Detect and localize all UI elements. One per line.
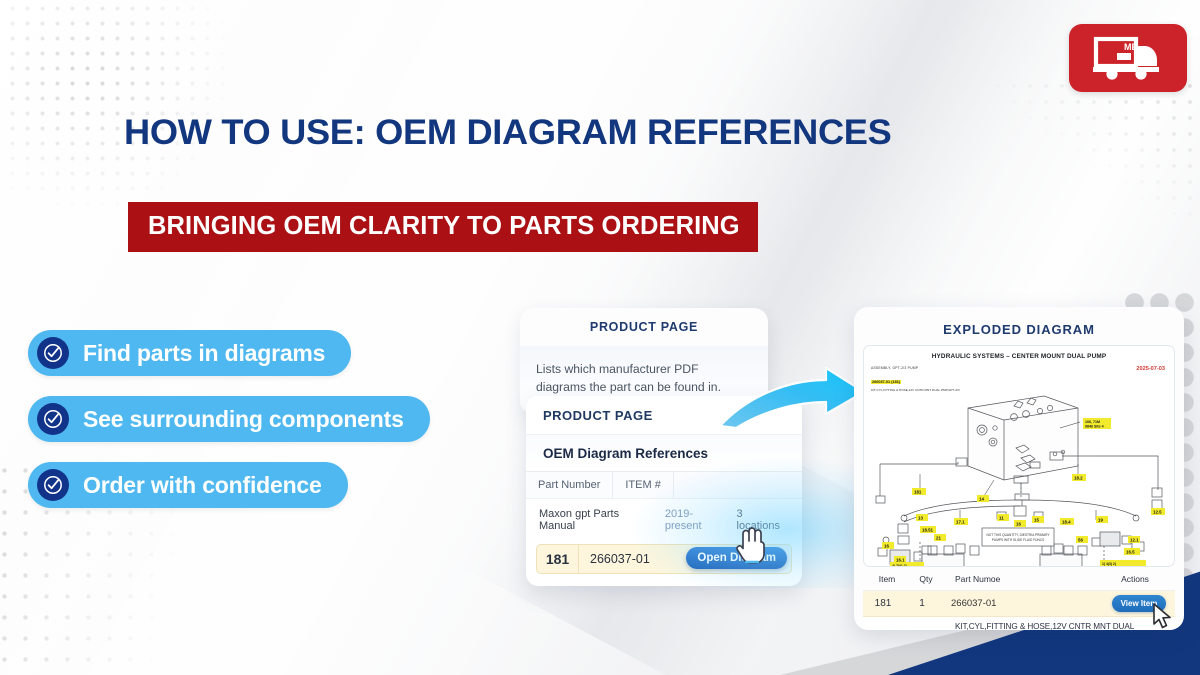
check-circle-icon	[37, 469, 69, 501]
row-qty: 1	[903, 598, 941, 609]
svg-text:9846 Site 4: 9846 Site 4	[1085, 424, 1104, 428]
table-column-headers: Part Number ITEM #	[526, 471, 802, 498]
svg-text:16.1: 16.1	[896, 557, 905, 562]
benefits-list: Find parts in diagrams See surrounding c…	[28, 330, 430, 528]
benefit-item-3: Order with confidence	[28, 462, 348, 508]
diagram-title: HYDRAULIC SYSTEMS – CENTER MOUNT DUAL PU…	[864, 346, 1174, 360]
view-item-button[interactable]: View Item	[1112, 595, 1167, 612]
svg-text:19: 19	[1098, 517, 1103, 522]
card-section-title: OEM Diagram References	[526, 435, 802, 471]
svg-text:15: 15	[1034, 517, 1039, 522]
benefit-label: Order with confidence	[83, 472, 322, 499]
desc-blank-qty	[907, 622, 945, 630]
benefit-label: Find parts in diagrams	[83, 340, 325, 367]
svg-text:1) 4(3) 2): 1) 4(3) 2)	[1102, 562, 1116, 566]
curved-arrow-right-icon	[718, 362, 868, 433]
halftone-dots-top-left	[0, 0, 320, 316]
svg-text:11: 11	[999, 515, 1004, 520]
svg-text:13: 13	[918, 515, 923, 520]
row-part-number: 266037-01	[941, 598, 1103, 609]
subtitle-banner: BRINGING OEM CLARITY TO PARTS ORDERING	[128, 202, 758, 252]
svg-text:106, 71M: 106, 71M	[1085, 420, 1100, 424]
exploded-diagram-title: EXPLODED DIAGRAM	[863, 317, 1175, 345]
svg-text:21: 21	[936, 535, 941, 540]
row-item-number: 181	[863, 598, 903, 609]
svg-text:12.1: 12.1	[1130, 537, 1139, 542]
manual-years: 2019-present	[665, 508, 730, 532]
svg-text:16.5: 16.5	[1126, 549, 1135, 554]
halftone-dots-top-right	[990, 78, 1200, 218]
svg-text:17.1: 17.1	[956, 519, 965, 524]
manual-name: Maxon gpt Parts Manual	[539, 508, 658, 532]
desc-blank-item	[867, 622, 907, 630]
manual-locations: 3 locations	[737, 508, 789, 532]
column-header-qty: Qty	[907, 574, 945, 584]
benefit-item-1: Find parts in diagrams	[28, 330, 351, 376]
product-page-info-title: PRODUCT PAGE	[520, 320, 768, 346]
column-header-item: Item	[867, 574, 907, 584]
svg-text:18.2: 18.2	[1074, 475, 1083, 480]
svg-text:14: 14	[979, 496, 984, 501]
row-actions-cell: View Item	[1103, 595, 1175, 612]
diagram-viewer[interactable]: HYDRAULIC SYSTEMS – CENTER MOUNT DUAL PU…	[863, 345, 1175, 567]
svg-text:4) 70(1,2): 4) 70(1,2)	[892, 564, 907, 567]
row-description: KIT,CYL,FITTING & HOSE,12V CNTR MNT DUAL…	[945, 622, 1171, 630]
benefit-item-2: See surrounding components	[28, 396, 430, 442]
table-header-row: Item Qty Part Numoe Actions	[863, 567, 1175, 591]
table-description-row: KIT,CYL,FITTING & HOSE,12V CNTR MNT DUAL…	[863, 617, 1175, 630]
svg-text:56: 56	[1078, 537, 1083, 542]
svg-text:NOT THIS QUANTITY, DIESTRIA PR: NOT THIS QUANTITY, DIESTRIA PRIMARY	[987, 533, 1051, 537]
poster-background: ME HOW TO USE: OEM DIAGRAM REFERENCES BR…	[0, 0, 1200, 675]
delivery-truck-icon: ME	[1091, 36, 1165, 80]
logo-text: ME	[1124, 42, 1138, 52]
svg-text:16: 16	[884, 543, 889, 548]
parts-table: Item Qty Part Numoe Actions 181 1 266037…	[863, 567, 1175, 630]
column-header-blank	[674, 471, 802, 498]
exploded-diagram-panel: EXPLODED DIAGRAM HYDRAULIC SYSTEMS – CEN…	[854, 307, 1184, 630]
table-row: 181 1 266037-01 View Item	[863, 591, 1175, 617]
diagram-artwork: 181 14 18.2 106, 71M9846 Site 4 13 17.1 …	[864, 370, 1175, 567]
brand-logo: ME	[1069, 24, 1187, 92]
row-part-number: 266037-01	[579, 552, 650, 566]
svg-text:181: 181	[914, 489, 922, 494]
svg-text:PUMPS WITH SLIDE FLUID FUNCS: PUMPS WITH SLIDE FLUID FUNCS	[992, 538, 1044, 542]
check-circle-icon	[37, 403, 69, 435]
column-header-actions: Actions	[1099, 574, 1171, 584]
manual-row: Maxon gpt Parts Manual 2019-present 3 lo…	[526, 498, 802, 540]
benefit-label: See surrounding components	[83, 406, 404, 433]
column-header-part-number: Part Numoe	[945, 574, 1099, 584]
svg-text:12.5: 12.5	[1153, 509, 1162, 514]
column-header-part-number: Part Number	[526, 471, 613, 498]
svg-text:18.4: 18.4	[1062, 519, 1071, 524]
check-circle-icon	[37, 337, 69, 369]
table-row: 181 266037-01 Open Diagram	[536, 544, 792, 574]
page-title: HOW TO USE: OEM DIAGRAM REFERENCES	[124, 112, 891, 153]
svg-text:16: 16	[1016, 521, 1021, 526]
column-header-item: ITEM #	[613, 471, 673, 498]
row-item-number: 181	[537, 545, 579, 573]
svg-text:18.51: 18.51	[922, 527, 934, 532]
open-diagram-button[interactable]: Open Diagram	[686, 547, 787, 569]
